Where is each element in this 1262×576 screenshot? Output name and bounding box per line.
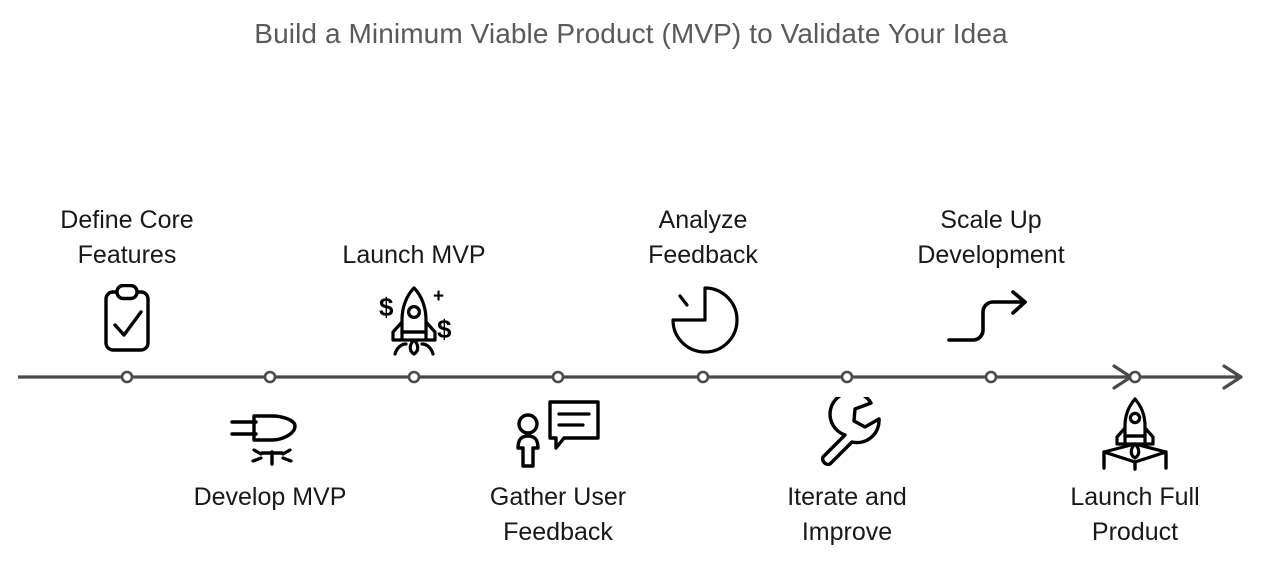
step-label: Gather User Feedback [443, 480, 673, 549]
timeline-step-launch-full-product[interactable]: Launch Full Product [1020, 394, 1250, 549]
step-label: Scale Up Development [917, 203, 1064, 272]
timeline-step-develop-mvp[interactable]: Develop MVP [155, 394, 385, 515]
timeline-step-scale-up-development[interactable]: Scale Up Development [876, 195, 1106, 360]
rocket-launchpad-icon [1020, 394, 1250, 474]
timeline-step-gather-user-feedback[interactable]: Gather User Feedback [443, 394, 673, 549]
svg-text:$: $ [437, 314, 452, 344]
svg-text:$: $ [379, 292, 394, 322]
timeline-marker [553, 372, 563, 382]
step-label: Develop MVP [155, 480, 385, 515]
timeline-step-launch-mvp[interactable]: Launch MVP $ $ + [299, 230, 529, 360]
timeline-marker [842, 372, 852, 382]
svg-text:+: + [433, 286, 444, 307]
timeline-marker [409, 372, 419, 382]
step-label: Launch Full Product [1020, 480, 1250, 549]
timeline-marker [1130, 372, 1140, 382]
timeline-marker [122, 372, 132, 382]
timeline-step-define-core-features[interactable]: Define Core Features [12, 195, 242, 360]
mvp-timeline-diagram: Build a Minimum Viable Product (MVP) to … [0, 0, 1262, 576]
timeline-step-analyze-feedback[interactable]: Analyze Feedback [588, 195, 818, 360]
timeline-marker [265, 372, 275, 382]
wrench-icon [732, 394, 962, 474]
timeline-marker [986, 372, 996, 382]
step-label: Analyze Feedback [648, 203, 758, 272]
timeline-marker [698, 372, 708, 382]
rocket-money-icon: $ $ + [371, 280, 457, 360]
page-title: Build a Minimum Viable Product (MVP) to … [0, 18, 1262, 50]
timeline-step-iterate-and-improve[interactable]: Iterate and Improve [732, 394, 962, 549]
step-label: Iterate and Improve [732, 480, 962, 549]
person-speech-bubble-icon [443, 394, 673, 474]
clipboard-check-icon [95, 280, 159, 360]
rocket-motion-icon [155, 394, 385, 474]
step-label: Define Core Features [60, 203, 193, 272]
step-arrow-icon [945, 280, 1037, 360]
pie-chart-icon [663, 280, 743, 360]
step-label: Launch MVP [342, 238, 485, 273]
